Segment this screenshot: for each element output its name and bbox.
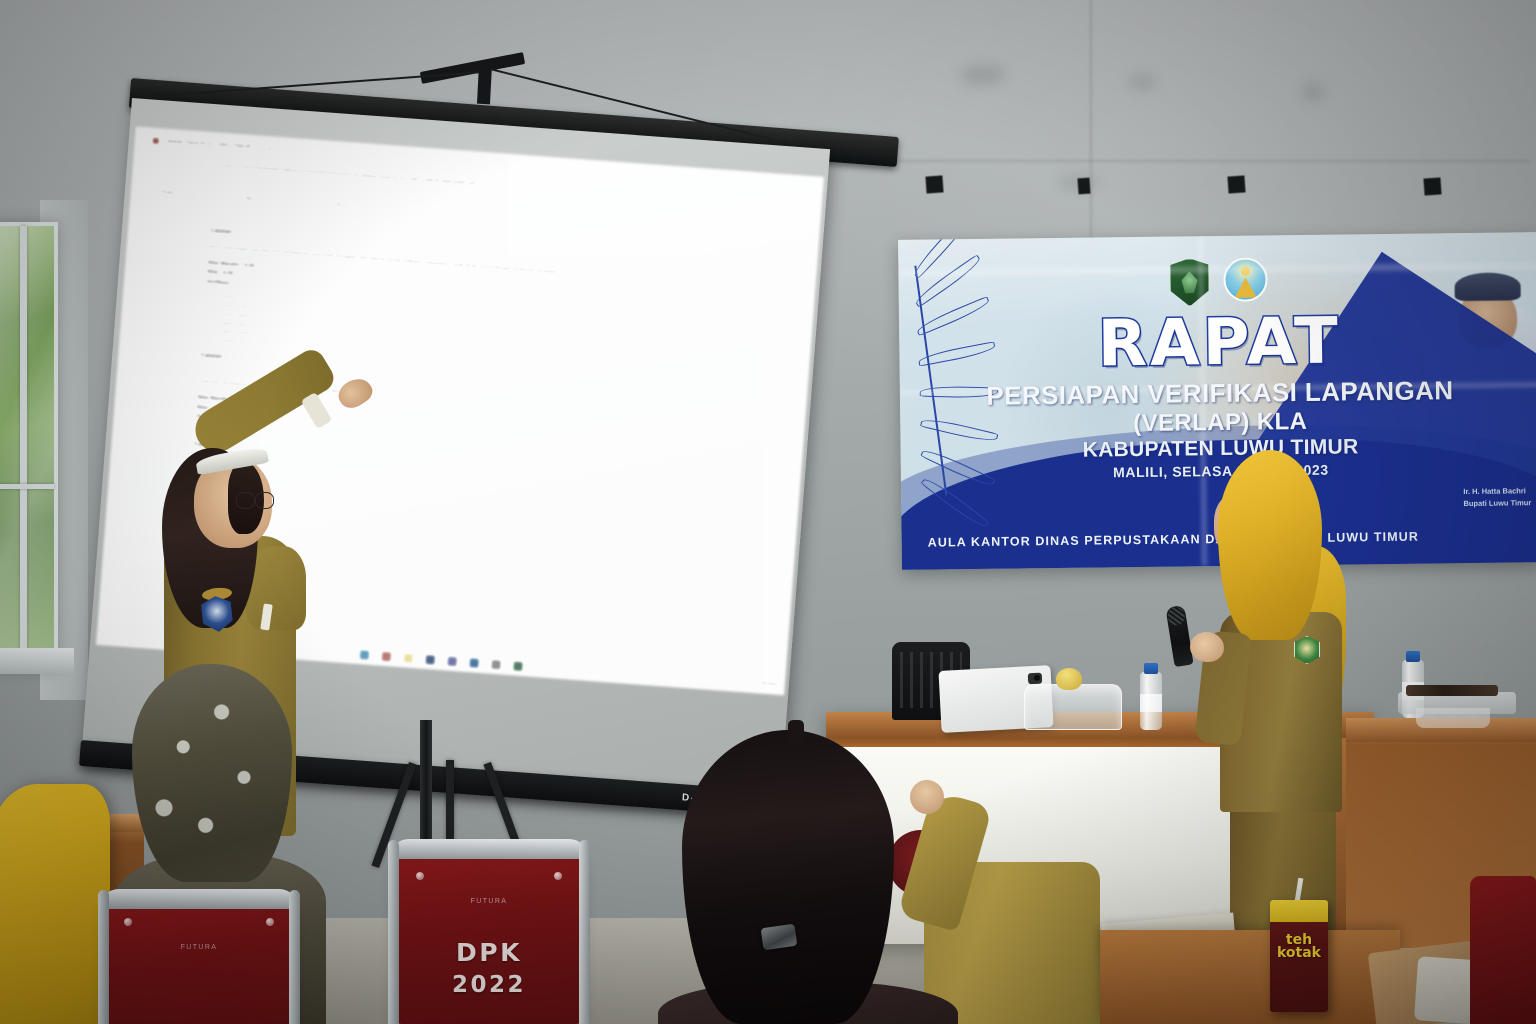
snack-tray <box>1398 692 1516 714</box>
chair-dpk-label: DPK <box>396 938 582 967</box>
erase-icon[interactable] <box>206 191 215 200</box>
wall-stain <box>1302 82 1324 102</box>
wall-nail <box>1423 177 1441 195</box>
window-frame <box>0 222 58 670</box>
drink-brand-bottom: kotak <box>1270 947 1328 960</box>
red-chair-rear[interactable]: FUTURA <box>106 896 292 1024</box>
wall-nail <box>1077 178 1090 195</box>
copilot-search-input[interactable]: Ask Copilot <box>264 194 317 209</box>
bottle-cap <box>1144 663 1158 674</box>
meeting-room-photo: RAPAT PERSIAPAN VERIFIKASI LAPANGAN (VER… <box>0 0 1536 1024</box>
store-icon[interactable] <box>491 659 501 669</box>
highlight-icon[interactable] <box>186 190 195 199</box>
system-tray[interactable]: 24 Kon <box>761 681 777 688</box>
browser-tab-title: Catatan Hasil KLA LUWU TIMUR <box>163 138 252 150</box>
teams-icon[interactable] <box>447 656 457 666</box>
chair-chrome-top <box>99 889 299 909</box>
attendee-hair-clip <box>761 924 798 951</box>
reload-icon[interactable] <box>171 158 181 168</box>
chair-chrome-top <box>389 839 589 859</box>
banner-title: RAPAT <box>899 308 1536 379</box>
new-tab-button[interactable]: + <box>267 144 272 153</box>
drink-brand-label: teh kotak <box>1270 934 1328 960</box>
speaker-hijab <box>1218 450 1322 640</box>
glass-food-dome <box>1024 684 1122 730</box>
chair-year-label: 2022 <box>396 972 582 998</box>
banner-signature: Ir. H. Hatta Bachri Bupati Luwu Timur <box>1463 485 1531 511</box>
carton-top <box>1270 900 1328 922</box>
window-glass <box>0 226 54 666</box>
speaker-hand <box>1190 632 1224 662</box>
food-dome-knob <box>1056 668 1082 690</box>
speaker-with-microphone <box>1196 450 1366 970</box>
teh-kotak-drink-carton[interactable]: teh kotak <box>1270 900 1328 1012</box>
banner-signature-role: Bupati Luwu Timur <box>1463 497 1531 511</box>
draw-label[interactable]: Draw <box>161 189 174 196</box>
red-chair-far-right[interactable] <box>1470 876 1536 1024</box>
wall-seam <box>880 160 1530 162</box>
chair-stud <box>124 918 132 926</box>
pdf-favicon-icon <box>153 137 159 143</box>
rotate-icon[interactable] <box>225 193 234 202</box>
wall-nail <box>1227 175 1245 193</box>
presenter-glasses <box>236 492 272 508</box>
attendee-floral-hijab <box>132 664 292 882</box>
window-latch[interactable] <box>0 484 54 489</box>
kla-logo-icon <box>1223 257 1268 302</box>
word-icon[interactable] <box>425 654 435 664</box>
chair-stud <box>266 918 274 926</box>
bottle-cap <box>1406 651 1420 662</box>
banner-signature-name: Ir. H. Hatta Bachri <box>1463 485 1531 499</box>
attendee-hair-tie <box>788 720 804 746</box>
chair-stud <box>554 872 562 880</box>
url-text: C:/Users/User/Downloads/Salinan%20%20%20… <box>215 162 476 187</box>
bottle-label <box>1140 694 1162 712</box>
wall-stain <box>960 64 1006 86</box>
chair-brand-label: FUTURA <box>396 898 582 905</box>
wall-stain <box>1128 74 1156 90</box>
draw-icon[interactable] <box>141 186 150 195</box>
back-icon[interactable] <box>139 155 149 165</box>
attendee-hair <box>682 730 894 1024</box>
red-chair-front[interactable]: FUTURA DPK 2022 <box>396 846 582 1024</box>
chair-stud <box>416 872 424 880</box>
outlook-icon[interactable] <box>469 658 479 668</box>
water-bottle[interactable] <box>1140 672 1162 730</box>
chair-chrome-right <box>289 890 300 1024</box>
wall-nail <box>925 175 943 193</box>
text-size-label[interactable]: Aa <box>245 195 252 201</box>
front-table <box>1100 930 1400 1024</box>
url-file-badge: File <box>195 161 209 168</box>
excel-icon[interactable] <box>513 661 523 671</box>
attendee-yellow-garment <box>0 784 110 1024</box>
tablet-camera-icon <box>1028 673 1043 685</box>
forward-icon[interactable] <box>155 156 165 166</box>
wall-seam <box>1090 0 1092 238</box>
chair-chrome-left <box>98 890 109 1024</box>
page-indicator: | 1 of 3 | <box>328 201 348 208</box>
seated-attendee-dark-hair <box>662 730 962 1024</box>
window-mullion <box>20 226 27 666</box>
chair-brand-label: FUTURA <box>106 944 292 951</box>
